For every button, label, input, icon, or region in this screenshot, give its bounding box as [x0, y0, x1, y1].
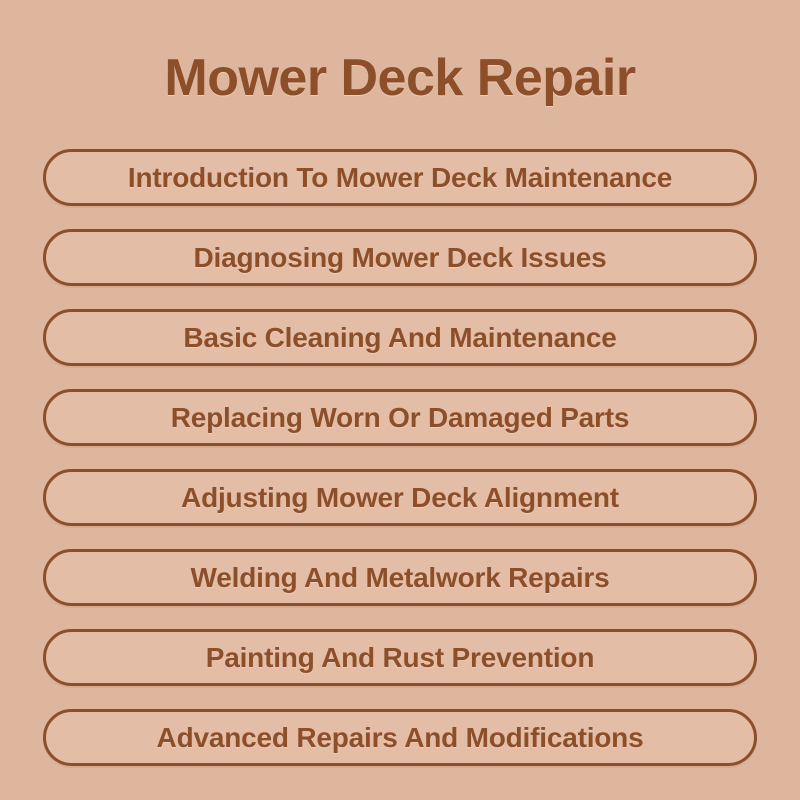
section-pill-8[interactable]: Advanced Repairs And Modifications [43, 709, 757, 766]
section-pill-6[interactable]: Welding And Metalwork Repairs [43, 549, 757, 606]
section-pill-4[interactable]: Replacing Worn Or Damaged Parts [43, 389, 757, 446]
section-pill-7[interactable]: Painting And Rust Prevention [43, 629, 757, 686]
section-pill-list: Introduction To Mower Deck Maintenance D… [43, 149, 757, 766]
page-title: Mower Deck Repair [0, 52, 800, 104]
section-pill-label: Advanced Repairs And Modifications [157, 724, 644, 752]
section-pill-label: Diagnosing Mower Deck Issues [194, 244, 607, 272]
poster-container: Mower Deck Repair Introduction To Mower … [0, 0, 800, 800]
section-pill-label: Introduction To Mower Deck Maintenance [128, 164, 672, 192]
section-pill-label: Basic Cleaning And Maintenance [183, 324, 616, 352]
section-pill-label: Adjusting Mower Deck Alignment [181, 484, 619, 512]
section-pill-label: Painting And Rust Prevention [206, 644, 595, 672]
section-pill-5[interactable]: Adjusting Mower Deck Alignment [43, 469, 757, 526]
section-pill-3[interactable]: Basic Cleaning And Maintenance [43, 309, 757, 366]
section-pill-label: Replacing Worn Or Damaged Parts [171, 404, 630, 432]
section-pill-1[interactable]: Introduction To Mower Deck Maintenance [43, 149, 757, 206]
section-pill-2[interactable]: Diagnosing Mower Deck Issues [43, 229, 757, 286]
section-pill-label: Welding And Metalwork Repairs [191, 564, 610, 592]
